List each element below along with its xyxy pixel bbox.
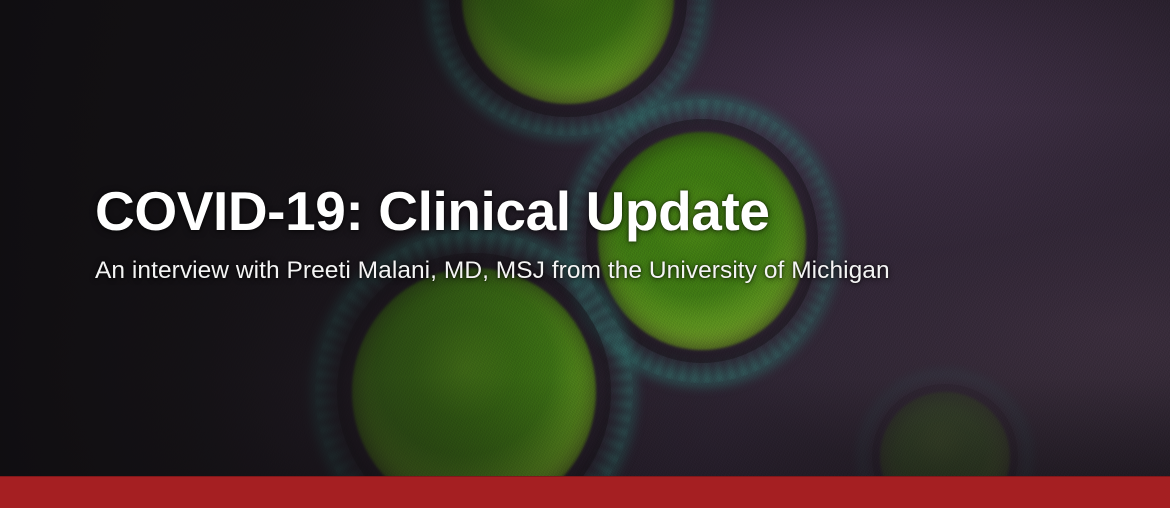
page-subtitle: An interview with Preeti Malani, MD, MSJ… bbox=[95, 256, 1035, 285]
video-title-card: COVID-19: Clinical Update An interview w… bbox=[0, 0, 1170, 508]
page-title: COVID-19: Clinical Update bbox=[95, 182, 1035, 240]
title-text-block: COVID-19: Clinical Update An interview w… bbox=[95, 182, 1035, 286]
bottom-brand-bar bbox=[0, 476, 1170, 508]
